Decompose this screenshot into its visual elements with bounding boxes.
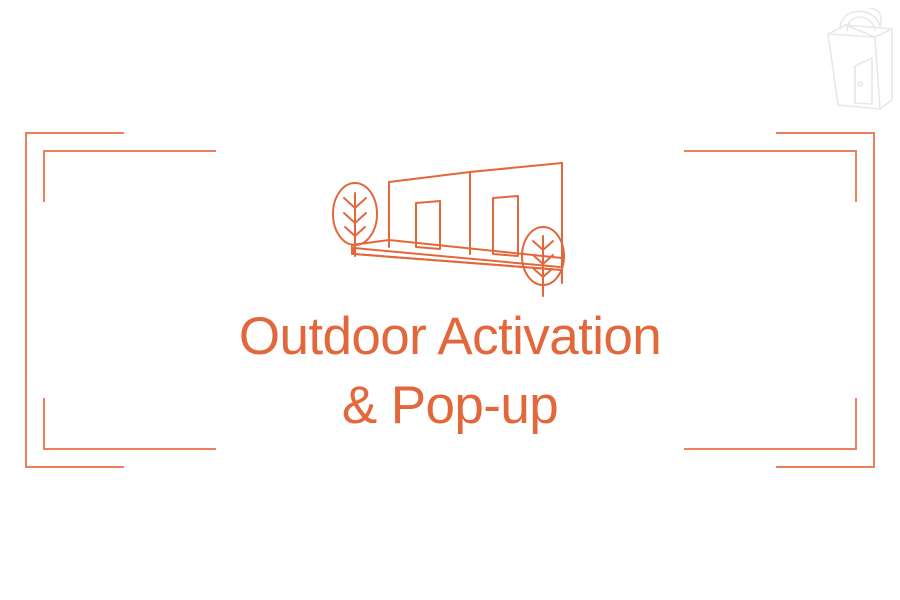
doorway-right [493,196,518,256]
facade-wall-right-top [470,163,562,172]
bracket-top-left-outer [26,133,124,300]
bracket-top-right-inner [684,151,856,202]
bracket-top-left-inner [44,151,216,202]
storefront-pop-up-illustration [318,148,582,300]
facade-wall-left-top [389,172,470,182]
page-title: Outdoor Activation & Pop-up [0,302,900,440]
page-title-line-2: & Pop-up [0,371,900,440]
page-title-line-1: Outdoor Activation [0,302,900,371]
storefront-glyph [318,148,582,300]
bracket-top-right-outer [776,133,874,300]
sidewalk-platform-top [352,240,562,270]
doorway-left [416,201,440,249]
tree-right [522,227,564,296]
sidewalk-platform-seam [354,248,560,267]
sidewalk-platform-front [354,254,562,270]
slide-canvas: Outdoor Activation & Pop-up [0,0,900,600]
tree-left [333,183,377,256]
